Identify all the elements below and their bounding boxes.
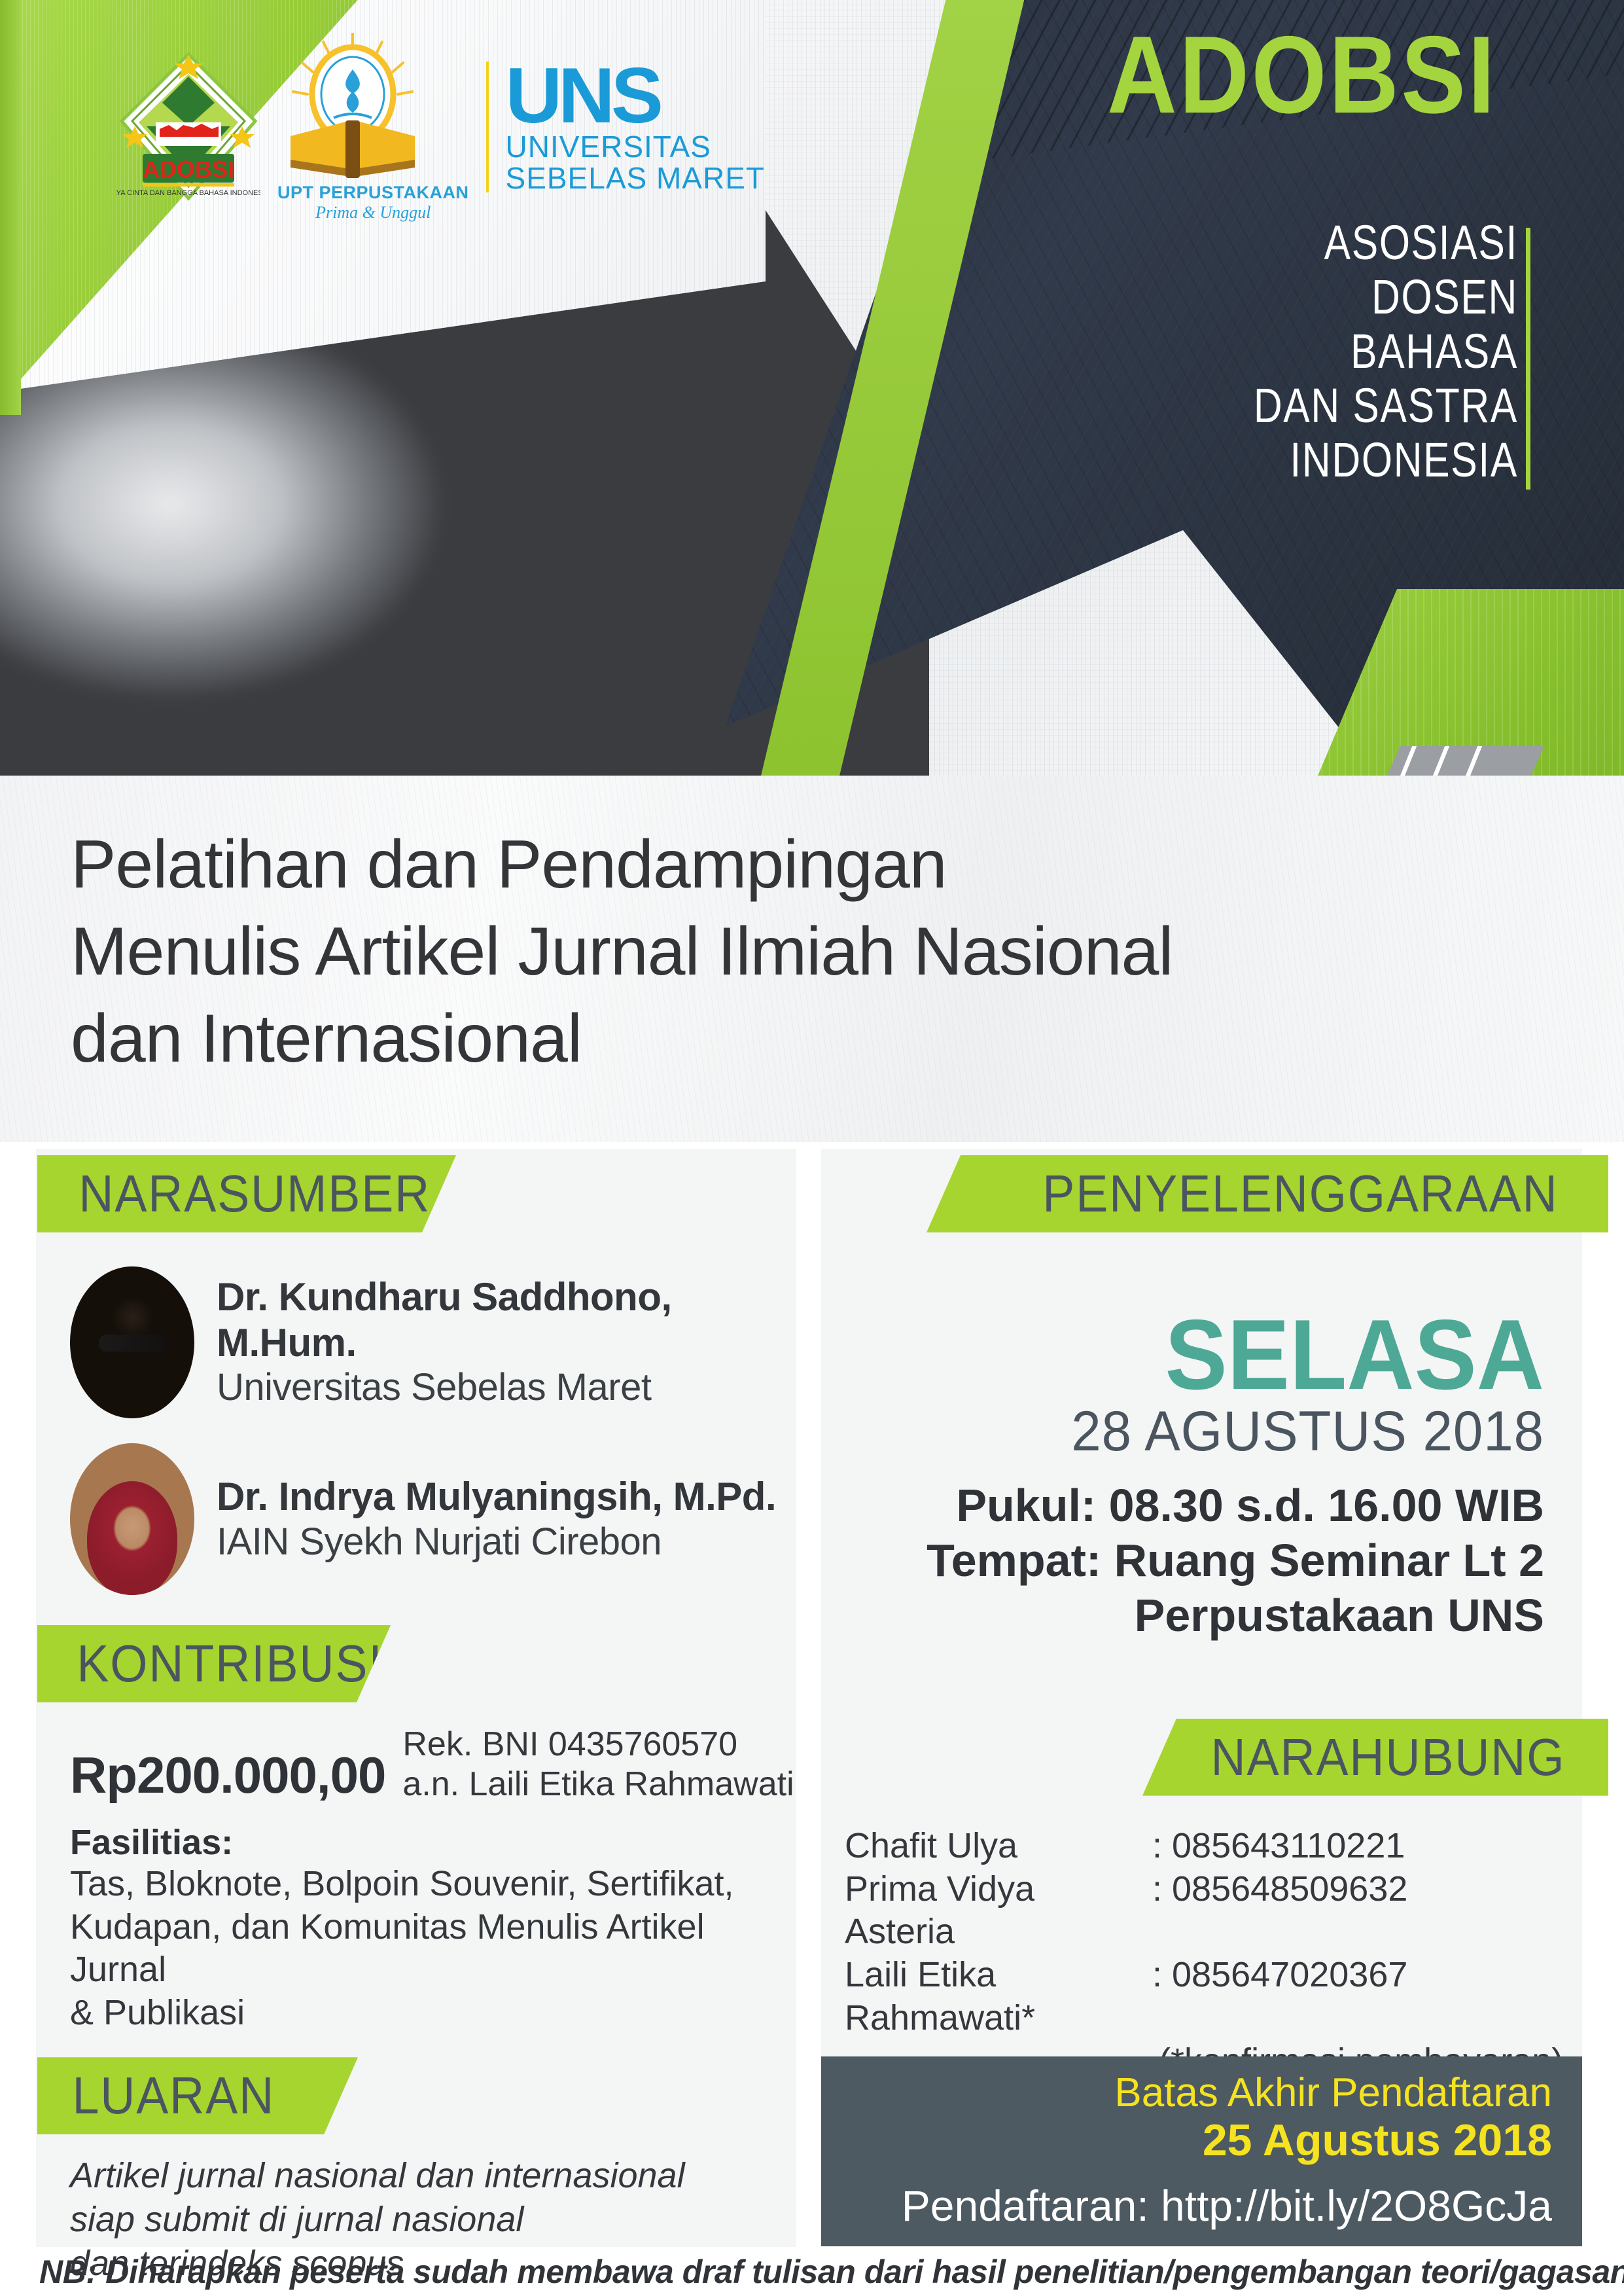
org-name-line-4: DAN SASTRA <box>1218 379 1518 433</box>
kontribusi-price-row: Rp200.000,00 Rek. BNI 0435760570 a.n. La… <box>70 1725 796 1805</box>
speaker-affiliation: IAIN Syekh Nurjati Cirebon <box>217 1520 776 1564</box>
speaker-affiliation: Universitas Sebelas Maret <box>217 1365 796 1410</box>
uns-logo-mark: UNS <box>506 60 765 131</box>
uns-logo: UNS UNIVERSITAS SEBELAS MARET <box>506 60 765 194</box>
luaran-heading-ribbon: LUARAN <box>37 2057 358 2134</box>
org-fullname-block: ASOSIASI DOSEN BAHASA DAN SASTRA INDONES… <box>1152 216 1543 487</box>
luaran-line-1: Artikel jurnal nasional dan internasiona… <box>70 2154 796 2198</box>
adobsi-logo: ADOBSI SAYA CINTA DAN BANGGA BAHASA INDO… <box>116 50 260 204</box>
event-title-line-3: dan Internasional <box>71 996 1173 1083</box>
narasumber-heading-ribbon: NARASUMBER <box>37 1155 456 1232</box>
event-venue-line-2: Perpustakaan UNS <box>821 1588 1544 1643</box>
contact-row: Prima Vidya Asteria : 085648509632 <box>845 1868 1582 1954</box>
luaran-heading: LUARAN <box>72 2066 275 2126</box>
kontribusi-heading-ribbon: KONTRIBUSI <box>37 1625 391 1702</box>
registration-deadline-date: 25 Agustus 2018 <box>821 2115 1552 2165</box>
contact-name: Laili Etika Rahmawati* <box>845 1954 1152 2040</box>
kontribusi-heading: KONTRIBUSI <box>77 1634 383 1694</box>
narasumber-heading: NARASUMBER <box>79 1164 431 1224</box>
perpustakaan-logo-tagline: Prima & Unggul <box>277 203 469 223</box>
narahubung-heading-ribbon: NARAHUBUNG <box>1142 1719 1608 1796</box>
event-day: SELASA <box>864 1308 1544 1403</box>
narahubung-heading: NARAHUBUNG <box>1211 1727 1566 1787</box>
org-name-line-2: DOSEN <box>1218 270 1518 325</box>
event-title: Pelatihan dan Pendampingan Menulis Artik… <box>71 821 1173 1083</box>
org-name-accent-rule <box>1526 228 1530 490</box>
contact-phone[interactable]: : 085647020367 <box>1152 1954 1582 2040</box>
penyelenggaraan-heading: PENYELENGGARAAN <box>1042 1164 1558 1224</box>
speaker-row: Dr. Kundharu Saddhono, M.Hum. Universita… <box>70 1266 796 1418</box>
fasilitas-label: Fasilitias: <box>70 1822 796 1863</box>
perpustakaan-logo-icon <box>277 31 428 182</box>
contact-phone[interactable]: : 085643110221 <box>1152 1825 1582 1868</box>
luaran-line-2: siap submit di jurnal nasional <box>70 2198 796 2242</box>
speaker-name: Dr. Indrya Mulyaningsih, M.Pd. <box>217 1474 776 1520</box>
org-name-line-5: INDONESIA <box>1218 433 1518 488</box>
event-title-line-1: Pelatihan dan Pendampingan <box>71 821 1173 908</box>
contact-list: Chafit Ulya : 085643110221 Prima Vidya A… <box>821 1796 1582 2083</box>
kontribusi-bank-info: Rek. BNI 0435760570 a.n. Laili Etika Rah… <box>402 1725 794 1805</box>
event-date: 28 AGUSTUS 2018 <box>857 1403 1544 1461</box>
speaker-name: Dr. Kundharu Saddhono, M.Hum. <box>217 1274 796 1365</box>
perpustakaan-logo-name: UPT PERPUSTAKAAN <box>277 183 469 203</box>
penyelenggaraan-heading-ribbon: PENYELENGGARAAN <box>927 1155 1608 1232</box>
logo-divider <box>486 62 489 192</box>
fasilitas-block: Fasilitias: Tas, Bloknote, Bolpoin Souve… <box>70 1822 796 2036</box>
org-acronym: ADOBSI <box>1101 20 1504 130</box>
contact-phone[interactable]: : 085648509632 <box>1152 1868 1582 1954</box>
bank-account-name: a.n. Laili Etika Rahmawati <box>402 1765 794 1804</box>
org-acronym-block: ADOBSI <box>1073 20 1531 130</box>
poster-header: ADOBSI SAYA CINTA DAN BANGGA BAHASA INDO… <box>0 0 1624 789</box>
fasilitas-line-3: & Publikasi <box>70 1992 796 2035</box>
speaker-info: Dr. Indrya Mulyaningsih, M.Pd. IAIN Syek… <box>217 1474 776 1564</box>
perpustakaan-logo: UPT PERPUSTAKAAN Prima & Unggul <box>277 31 469 223</box>
registration-box: Batas Akhir Pendaftaran 25 Agustus 2018 … <box>821 2056 1582 2246</box>
registration-url[interactable]: Pendaftaran: http://bit.ly/2O8GcJa <box>821 2182 1552 2230</box>
speaker-avatar <box>70 1266 194 1418</box>
logo-row: ADOBSI SAYA CINTA DAN BANGGA BAHASA INDO… <box>116 31 765 223</box>
org-name-line-3: BAHASA <box>1218 325 1518 379</box>
contact-row: Laili Etika Rahmawati* : 085647020367 <box>845 1954 1582 2040</box>
contact-name: Prima Vidya Asteria <box>845 1868 1152 1954</box>
adobsi-logo-icon: ADOBSI SAYA CINTA DAN BANGGA BAHASA INDO… <box>116 50 260 201</box>
adobsi-logo-wordmark: ADOBSI <box>143 156 234 183</box>
adobsi-logo-tagline: SAYA CINTA DAN BANGGA BAHASA INDONESIA <box>116 189 260 197</box>
header-green-left-edge <box>0 0 21 415</box>
kontribusi-price: Rp200.000,00 <box>70 1746 385 1805</box>
speaker-info: Dr. Kundharu Saddhono, M.Hum. Universita… <box>217 1274 796 1410</box>
fasilitas-line-2: Kudapan, dan Komunitas Menulis Artikel J… <box>70 1906 796 1992</box>
contact-row: Chafit Ulya : 085643110221 <box>845 1825 1582 1868</box>
event-time: Pukul: 08.30 s.d. 16.00 WIB <box>821 1478 1544 1533</box>
event-venue-line-1: Tempat: Ruang Seminar Lt 2 <box>821 1533 1544 1588</box>
event-title-band: Pelatihan dan Pendampingan Menulis Artik… <box>0 776 1624 1142</box>
event-title-line-2: Menulis Artikel Jurnal Ilmiah Nasional <box>71 908 1173 996</box>
contact-name: Chafit Ulya <box>845 1825 1152 1868</box>
poster-canvas: ADOBSI SAYA CINTA DAN BANGGA BAHASA INDO… <box>0 0 1624 2296</box>
event-schedule: SELASA 28 AGUSTUS 2018 Pukul: 08.30 s.d.… <box>821 1232 1582 1643</box>
left-panel: NARASUMBER Dr. Kundharu Saddhono, M.Hum.… <box>36 1149 796 2247</box>
speaker-row: Dr. Indrya Mulyaningsih, M.Pd. IAIN Syek… <box>70 1443 796 1595</box>
org-name-line-1: ASOSIASI <box>1218 216 1518 270</box>
fasilitas-line-1: Tas, Bloknote, Bolpoin Souvenir, Sertifi… <box>70 1863 796 1906</box>
uns-logo-line2: SEBELAS MARET <box>506 162 765 194</box>
uns-logo-line1: UNIVERSITAS <box>506 131 765 162</box>
registration-deadline-label: Batas Akhir Pendaftaran <box>821 2071 1552 2115</box>
footer-note: NB: Diharapkan peserta sudah membawa dra… <box>39 2253 1597 2291</box>
speaker-avatar <box>70 1443 194 1595</box>
bank-account-number: Rek. BNI 0435760570 <box>402 1725 794 1765</box>
